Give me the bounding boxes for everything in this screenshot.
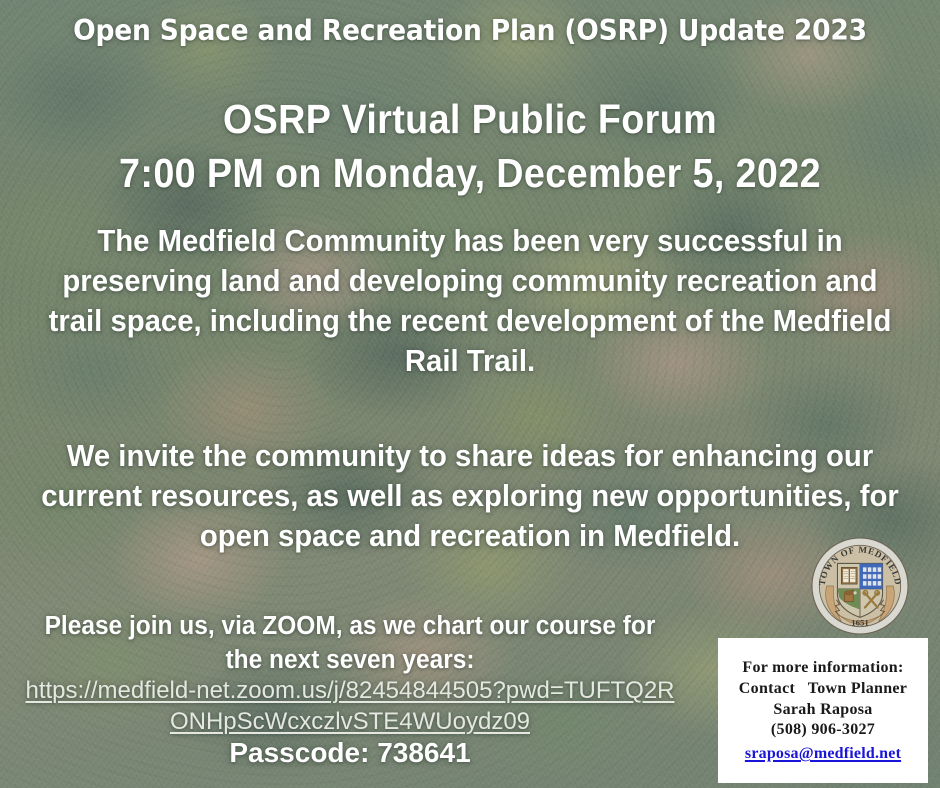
osrp-flyer: Open Space and Recreation Plan (OSRP) Up… xyxy=(0,0,940,788)
flyer-content: Open Space and Recreation Plan (OSRP) Up… xyxy=(0,0,940,788)
town-of-medfield-seal-icon: TOWN OF MEDFIELD xyxy=(811,537,909,635)
seal-founding-year: 1651 xyxy=(851,618,869,628)
join-instructions: Please join us, via ZOOM, as we chart ou… xyxy=(33,610,667,678)
contact-line-1: For more information: xyxy=(742,658,903,679)
zoom-meeting-link[interactable]: https://medfield-net.zoom.us/j/824548445… xyxy=(20,676,680,737)
zoom-passcode: Passcode: 738641 xyxy=(20,737,680,769)
flyer-headline: Open Space and Recreation Plan (OSRP) Up… xyxy=(33,14,907,47)
event-title-and-time: OSRP Virtual Public Forum 7:00 PM on Mon… xyxy=(38,92,903,200)
contact-info-box: For more information: Contact Town Plann… xyxy=(718,638,928,783)
paragraph-invitation: We invite the community to share ideas f… xyxy=(28,437,911,557)
contact-line-3: Sarah Raposa xyxy=(773,700,872,721)
contact-line-2: Contact Town Planner xyxy=(739,679,907,700)
contact-email-link[interactable]: sraposa@medfield.net xyxy=(745,744,901,765)
paragraph-accomplishments: The Medfield Community has been very suc… xyxy=(46,222,895,382)
contact-phone: (508) 906-3027 xyxy=(771,720,875,741)
